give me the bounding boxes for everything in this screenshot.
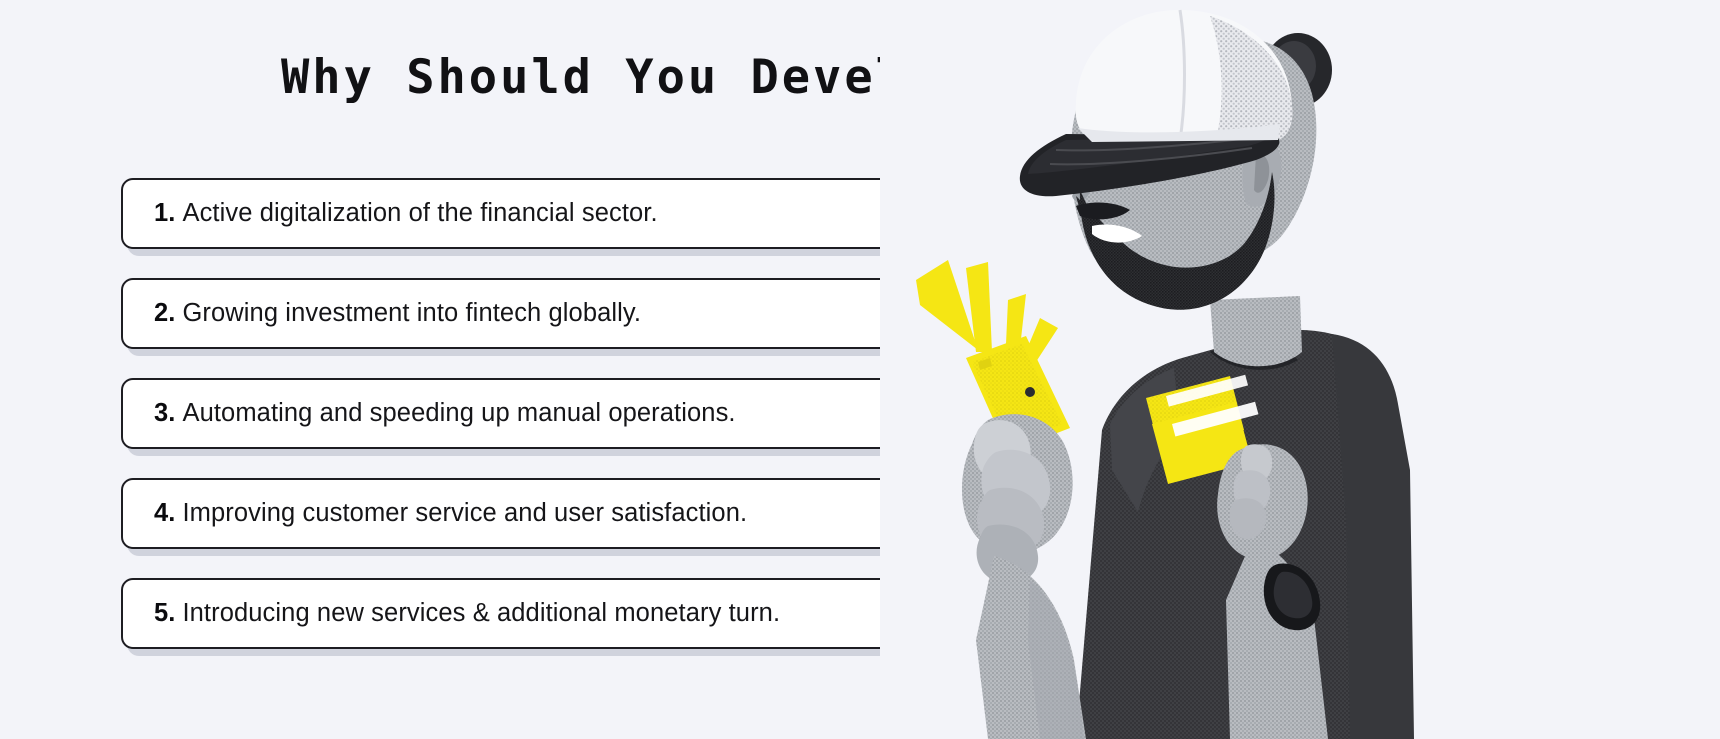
hero-illustration <box>880 0 1720 739</box>
infographic-canvas: Why Should You Develop a Fintech App? 1.… <box>0 0 1720 739</box>
list-item[interactable]: 1.Active digitalization of the financial… <box>121 178 935 249</box>
man-with-phone-illustration <box>880 0 1720 739</box>
list-item-label: Growing investment into fintech globally… <box>182 299 641 327</box>
card-face[interactable]: 5.Introducing new services & additional … <box>121 578 935 649</box>
list-item-label: Improving customer service and user sati… <box>182 499 747 527</box>
list-item[interactable]: 3.Automating and speeding up manual oper… <box>121 378 935 449</box>
card-face[interactable]: 2.Growing investment into fintech global… <box>121 278 935 349</box>
list-item-number: 4. <box>154 499 175 527</box>
list-item-text: 4.Improving customer service and user sa… <box>154 499 747 528</box>
card-face[interactable]: 1.Active digitalization of the financial… <box>121 178 935 249</box>
list-item-label: Introducing new services & additional mo… <box>182 599 780 627</box>
list-item[interactable]: 5.Introducing new services & additional … <box>121 578 935 649</box>
list-item[interactable]: 4.Improving customer service and user sa… <box>121 478 935 549</box>
neck <box>1210 296 1302 366</box>
list-item-number: 3. <box>154 399 175 427</box>
list-item-text: 3.Automating and speeding up manual oper… <box>154 399 736 428</box>
list-item-text: 5.Introducing new services & additional … <box>154 599 780 628</box>
list-item-number: 5. <box>154 599 175 627</box>
list-item-text: 1.Active digitalization of the financial… <box>154 199 658 228</box>
list-item-text: 2.Growing investment into fintech global… <box>154 299 641 328</box>
list-item-label: Automating and speeding up manual operat… <box>182 399 735 427</box>
card-face[interactable]: 3.Automating and speeding up manual oper… <box>121 378 935 449</box>
list-item-label: Active digitalization of the financial s… <box>182 199 657 227</box>
list-item-number: 1. <box>154 199 175 227</box>
list-item[interactable]: 2.Growing investment into fintech global… <box>121 278 935 349</box>
reasons-list: 1.Active digitalization of the financial… <box>121 178 941 678</box>
phone-camera-icon <box>1025 387 1035 397</box>
list-item-number: 2. <box>154 299 175 327</box>
card-face[interactable]: 4.Improving customer service and user sa… <box>121 478 935 549</box>
